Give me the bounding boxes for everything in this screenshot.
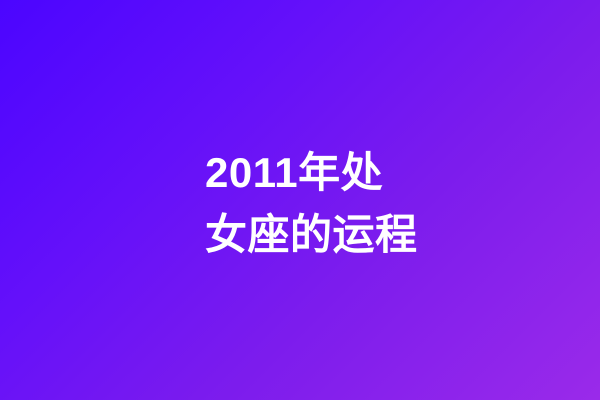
banner-title-line-1: 2011年处 <box>205 142 545 204</box>
gradient-banner: 2011年处 女座的运程 <box>0 0 600 400</box>
banner-title: 2011年处 女座的运程 <box>205 142 545 266</box>
banner-title-line-2: 女座的运程 <box>205 204 545 266</box>
